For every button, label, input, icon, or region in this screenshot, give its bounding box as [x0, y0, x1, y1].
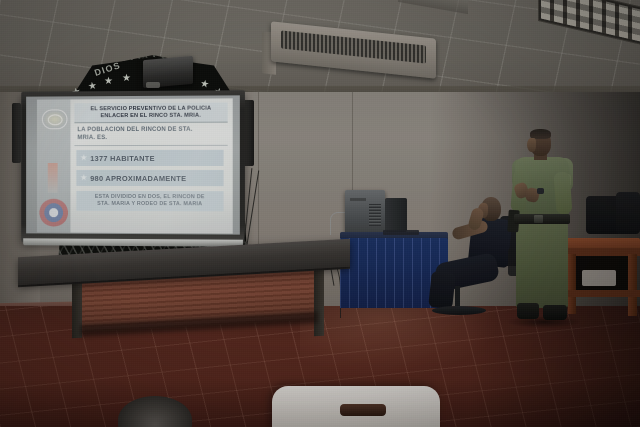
slide-left-watermark-panel	[37, 99, 70, 232]
standing-officer-arm-right	[554, 171, 573, 214]
mural-star-4: ★	[122, 74, 131, 84]
wooden-table-leg-right	[628, 254, 637, 316]
seated-officer-shin	[428, 271, 456, 309]
slide-footer-line-2: STA. MARIA Y RODEO DE STA. MARIA	[78, 201, 221, 208]
whiteboard-left-bracket	[12, 103, 21, 163]
slide-flag-strip-icon	[48, 163, 58, 193]
mural-star-5: ★	[199, 79, 210, 90]
slide-content: EL SERVICIO PREVENTIVO DE LA POLICIA ENL…	[70, 98, 232, 233]
white-item-under-table	[582, 270, 616, 286]
slide-bullet-2-text: 980 APROXIMADAMENTE	[90, 173, 186, 182]
wristwatch-icon	[537, 188, 544, 194]
slide-subtitle: LA POBLACION DEL RINCON DE STA. MRIA. ES…	[74, 123, 227, 146]
slide-title-line-1: EL SERVICIO PREVENTIVO DE LA POLICIA	[76, 105, 225, 113]
standing-officer-face	[527, 138, 536, 152]
side-chair-2[interactable]	[616, 192, 640, 234]
projected-slide: EL SERVICIO PREVENTIVO DE LA POLICIA ENL…	[37, 98, 233, 233]
computer-tower[interactable]	[345, 190, 385, 234]
star-bullet-icon	[80, 154, 87, 161]
projector-lens-icon	[146, 82, 160, 88]
keyboard[interactable]	[383, 230, 419, 235]
slide-subtitle-line-2: MRIA. ES.	[77, 134, 225, 142]
slide-bullet-1-text: 1377 HABITANTE	[90, 153, 155, 162]
standing-officer-boot-left	[517, 303, 539, 319]
office-chair-base	[432, 306, 486, 315]
wooden-table-shelf	[566, 290, 640, 297]
mural-star-3: ★	[104, 77, 113, 87]
optical-drive-slot	[350, 198, 366, 201]
presentation-room-photo: DIOS ★ ★ ★ ★ ★ ★ EL SERVICIO PREVENTIVO …	[0, 0, 640, 427]
ac-grille	[281, 30, 426, 63]
slide-bullet-1: 1377 HABITANTE	[76, 150, 223, 166]
slide-title-line-2: ENLACER EN EL RINCO STA. MRIA.	[76, 112, 225, 120]
wooden-table-leg-left	[568, 254, 576, 314]
standing-officer-legs	[516, 222, 568, 308]
tower-vents	[369, 204, 381, 226]
slide-seal-icon	[39, 199, 69, 227]
star-bullet-icon	[80, 174, 87, 181]
slide-badge-icon	[42, 109, 68, 129]
chair-back-handle-slot	[340, 404, 386, 416]
belt-buckle-icon	[534, 215, 543, 223]
slide-bullet-2: 980 APROXIMADAMENTE	[76, 170, 223, 186]
slide-title: EL SERVICIO PREVENTIVO DE LA POLICIA ENL…	[74, 102, 227, 123]
slide-footer: ESTA DIVIDIDO EN DOS, EL RINCON DE STA. …	[76, 191, 223, 211]
monitor-rear	[385, 198, 407, 232]
standing-officer-boot-right	[543, 305, 567, 320]
